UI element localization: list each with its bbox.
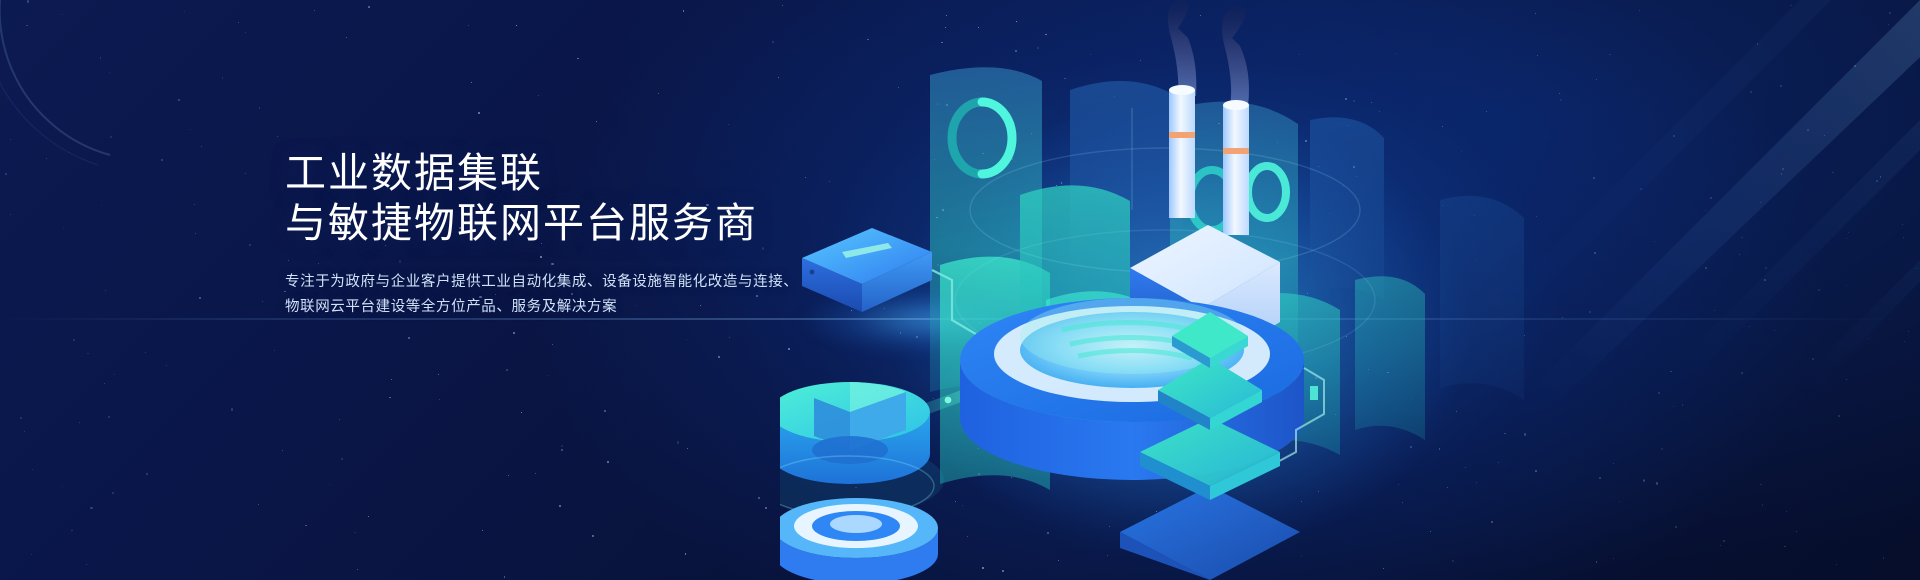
smokestack-2-band [1223,148,1249,154]
page-title: 工业数据集联 与敏捷物联网平台服务商 [285,148,905,248]
pie-cylinder [780,382,944,516]
hero-text-block: 工业数据集联 与敏捷物联网平台服务商 专注于为政府与企业客户提供工业自动化集成、… [285,148,905,320]
headline-line-2: 与敏捷物联网平台服务商 [285,198,905,248]
crescent-arc-decoration [0,0,230,180]
smoke-plume-2 [1222,6,1249,106]
ring-base-core [830,515,882,533]
hero-subtitle: 专注于为政府与企业客户提供工业自动化集成、设备设施智能化改造与连接、 物联网云平… [285,270,905,320]
illustration-svg [780,0,1920,580]
pie-inner-floor [812,436,888,464]
ring-base-disc [780,498,938,580]
glass-panel-far-right [1310,117,1384,300]
smokestack-1-band [1169,132,1195,138]
glass-panel-edge-right [1440,196,1524,400]
subtitle-line-1: 专注于为政府与企业客户提供工业自动化集成、设备设施智能化改造与连接、 [285,270,905,295]
smokestack-1 [1169,90,1195,218]
headline-line-1: 工业数据集联 [285,148,905,198]
subtitle-line-2: 物联网云平台建设等全方位产品、服务及解决方案 [285,295,905,320]
smokestack-2 [1223,105,1249,235]
hero-banner: 工业数据集联 与敏捷物联网平台服务商 专注于为政府与企业客户提供工业自动化集成、… [0,0,1920,580]
iot-illustration [780,0,1920,580]
smoke-plume-1 [1168,0,1196,96]
glass-panel-sliver [1355,276,1425,440]
